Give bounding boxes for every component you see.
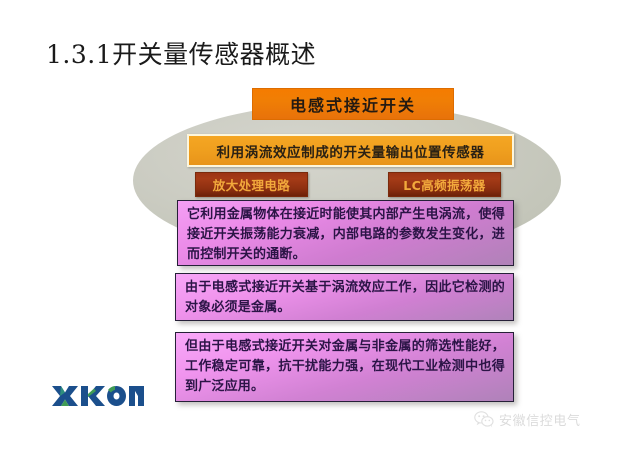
diagram-subheading-box: 利用涡流效应制成的开关量输出位置传感器	[187, 134, 514, 167]
page-title: 1.3.1开关量传感器概述	[46, 40, 316, 70]
paragraph-box-target-material: 由于电感式接近开关基于涡流效应工作，因此它检测的对象必须是金属。	[175, 273, 514, 321]
component-label-amplifier-circuit: 放大处理电路	[213, 175, 290, 194]
watermark-label: 安徽信控电气	[499, 410, 581, 429]
component-label-lc-oscillator: LC高频振荡器	[403, 175, 485, 194]
xkon-logo-icon	[50, 383, 146, 409]
diagram-heading-box: 电感式接近开关	[252, 88, 454, 120]
paragraph-box-advantages: 但由于电感式接近开关对金属与非金属的筛选性能好，工作稳定可靠，抗干扰能力强，在现…	[175, 332, 514, 402]
paragraph-text-advantages: 但由于电感式接近开关对金属与非金属的筛选性能好，工作稳定可靠，抗干扰能力强，在现…	[185, 337, 505, 397]
paragraph-text-principle: 它利用金属物体在接近时能使其内部产生电涡流，使得接近开关振荡能力衰减，内部电路的…	[187, 205, 505, 265]
diagram-heading-label: 电感式接近开关	[290, 92, 416, 116]
watermark: 安徽信控电气	[474, 410, 581, 429]
wechat-icon	[474, 411, 494, 428]
xkon-logo	[50, 383, 146, 409]
paragraph-box-principle: 它利用金属物体在接近时能使其内部产生电涡流，使得接近开关振荡能力衰减，内部电路的…	[177, 200, 514, 266]
paragraph-text-target-material: 由于电感式接近开关基于涡流效应工作，因此它检测的对象必须是金属。	[185, 278, 505, 318]
diagram-subheading-label: 利用涡流效应制成的开关量输出位置传感器	[217, 141, 485, 161]
slide-canvas: 1.3.1开关量传感器概述 电感式接近开关 利用涡流效应制成的开关量输出位置传感…	[0, 0, 640, 453]
component-box-lc-oscillator: LC高频振荡器	[388, 172, 501, 197]
component-box-amplifier-circuit: 放大处理电路	[195, 172, 308, 197]
